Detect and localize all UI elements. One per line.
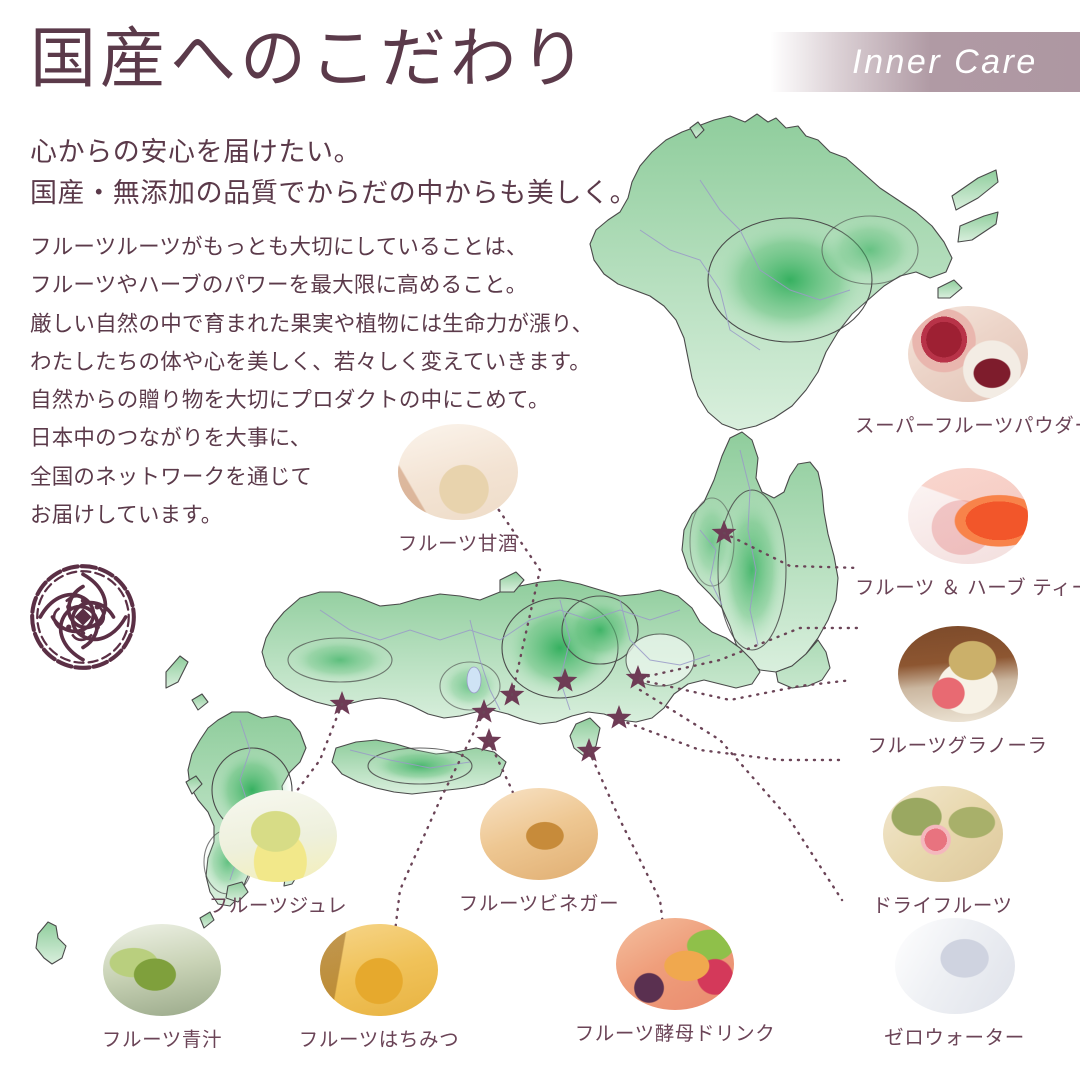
body-copy-line-4: わたしたちの体や心を美しく、若々しく変えていきます。: [30, 343, 593, 381]
product-super-fruit-powder-label: スーパーフルーツパウダー: [855, 409, 1080, 438]
marker-izu: [577, 738, 602, 762]
botanical-seal-icon: [22, 556, 144, 678]
island-honshu-central: [262, 580, 830, 724]
dried-fruit-photo-artwork: [883, 786, 1003, 882]
connector-to-fruit-herb-tea: [640, 628, 860, 678]
island-sado: [500, 572, 524, 592]
relief-tohoku-west: [690, 498, 734, 586]
relief-kinki-hills: [440, 662, 500, 710]
product-fruit-aojiru-label: フルーツ青汁: [72, 1023, 252, 1052]
fruit-vinegar-photo[interactable]: [480, 788, 598, 880]
product-fruit-aojiru[interactable]: フルーツ青汁: [72, 924, 252, 1052]
relief-shikoku-mountains: [368, 748, 472, 784]
product-fruit-amazake-label: フルーツ甘酒: [368, 527, 548, 556]
relief-japan-alps: [502, 598, 618, 698]
product-fruit-vinegar-label: フルーツビネガー: [444, 887, 634, 916]
body-copy-line-5: 自然からの贈り物を大切にプロダクトの中にこめて。: [30, 381, 593, 419]
subheading: 心からの安心を届けたい。国産・無添加の品質でからだの中からも美しく。: [30, 132, 637, 214]
fruit-granola-photo-artwork: [898, 626, 1018, 722]
peninsula-izu: [570, 718, 600, 756]
connector-to-dried-fruit: [620, 720, 840, 760]
fruit-honey-photo-artwork: [320, 924, 438, 1016]
marker-kinki: [472, 699, 497, 723]
infographic-canvas: Inner Care 国産へのこだわり 心からの安心を届けたい。国産・無添加の品…: [0, 0, 1080, 1080]
product-zero-water-label: ゼロウォーター: [842, 1021, 1067, 1050]
botanical-seal-emblem: [22, 556, 144, 678]
body-copy-line-3: 厳しい自然の中で育まれた果実や植物には生命力が漲り、: [30, 305, 593, 343]
zero-water-photo[interactable]: [895, 918, 1015, 1014]
product-super-fruit-powder[interactable]: スーパーフルーツパウダー: [855, 306, 1080, 438]
product-fruit-granola-label: フルーツグラノーラ: [845, 729, 1070, 758]
fruit-yeast-drink-photo[interactable]: [616, 918, 734, 1010]
fruit-aojiru-photo-artwork: [103, 924, 221, 1016]
product-fruit-amazake[interactable]: フルーツ甘酒: [368, 424, 548, 556]
connector-to-super-fruit-powder: [724, 533, 860, 568]
island-etorofu: [958, 212, 998, 242]
island-kunashiri: [952, 170, 998, 210]
super-fruit-powder-photo-artwork: [908, 306, 1028, 402]
product-zero-water[interactable]: ゼロウォーター: [842, 918, 1067, 1050]
marker-tokai: [607, 705, 632, 729]
inner-care-badge-label: Inner Care: [812, 43, 1038, 82]
marker-kanto: [626, 665, 651, 689]
island-iki: [192, 694, 208, 710]
product-fruit-vinegar[interactable]: フルーツビネガー: [444, 788, 634, 916]
marker-chubu: [553, 668, 578, 692]
fruit-jule-photo-artwork: [219, 790, 337, 882]
marker-shikoku: [477, 728, 502, 752]
island-tsushima: [166, 656, 188, 688]
relief-hokkaido-central: [708, 218, 872, 342]
product-fruit-granola[interactable]: フルーツグラノーラ: [845, 626, 1070, 758]
product-fruit-jule-label: フルーツジュレ: [188, 889, 368, 918]
island-rishiri: [690, 122, 704, 138]
product-fruit-herb-tea[interactable]: フルーツ ＆ ハーブ ティー: [855, 468, 1080, 600]
connector-to-zero-water: [640, 690, 842, 900]
fruit-honey-photo[interactable]: [320, 924, 438, 1016]
fruit-amazake-photo-artwork: [398, 424, 518, 520]
marker-chugoku: [330, 691, 355, 715]
relief-ou-range: [718, 490, 786, 650]
fruit-amazake-photo[interactable]: [398, 424, 518, 520]
fruit-vinegar-photo-artwork: [480, 788, 598, 880]
product-fruit-yeast-drink-label: フルーツ酵母ドリンク: [570, 1017, 780, 1046]
product-dried-fruit-label: ドライフルーツ: [830, 889, 1055, 918]
fruit-aojiru-photo[interactable]: [103, 924, 221, 1016]
fruit-yeast-drink-photo-artwork: [616, 918, 734, 1010]
fruit-herb-tea-photo[interactable]: [908, 468, 1028, 564]
product-fruit-herb-tea-label: フルーツ ＆ ハーブ ティー: [855, 571, 1080, 600]
fruit-herb-tea-photo-artwork: [908, 468, 1028, 564]
relief-kanto-plain: [626, 634, 694, 686]
island-shikotan: [938, 280, 962, 298]
fruit-granola-photo[interactable]: [898, 626, 1018, 722]
fruit-jule-photo[interactable]: [219, 790, 337, 882]
body-copy-line-1: フルーツルーツがもっとも大切にしていることは、: [30, 228, 593, 266]
product-fruit-honey[interactable]: フルーツはちみつ: [284, 924, 474, 1052]
island-honshu-north: [682, 432, 838, 672]
zero-water-photo-artwork: [895, 918, 1015, 1014]
relief-chubu-high: [562, 596, 638, 664]
page-title: 国産へのこだわり: [30, 22, 590, 95]
subheading-line-1: 心からの安心を届けたい。: [30, 132, 637, 173]
map-lakes: [467, 667, 481, 693]
relief-chugoku-range: [288, 638, 392, 682]
subheading-line-2: 国産・無添加の品質でからだの中からも美しく。: [30, 173, 637, 214]
marker-tohoku: [712, 520, 737, 544]
relief-hokkaido-east: [822, 216, 918, 284]
super-fruit-powder-photo[interactable]: [908, 306, 1028, 402]
product-fruit-yeast-drink[interactable]: フルーツ酵母ドリンク: [570, 918, 780, 1046]
product-dried-fruit[interactable]: ドライフルーツ: [830, 786, 1055, 918]
product-fruit-honey-label: フルーツはちみつ: [284, 1023, 474, 1052]
island-shikoku: [332, 740, 506, 794]
inner-care-badge: Inner Care: [770, 32, 1080, 92]
product-fruit-jule[interactable]: フルーツジュレ: [188, 790, 368, 918]
dried-fruit-photo[interactable]: [883, 786, 1003, 882]
marker-hokuriku: [500, 682, 525, 706]
body-copy-line-2: フルーツやハーブのパワーを最大限に高めること。: [30, 266, 593, 304]
lake-biwa: [467, 667, 481, 693]
connector-to-fruit-granola: [640, 680, 852, 700]
island-okinawa: [36, 922, 66, 964]
